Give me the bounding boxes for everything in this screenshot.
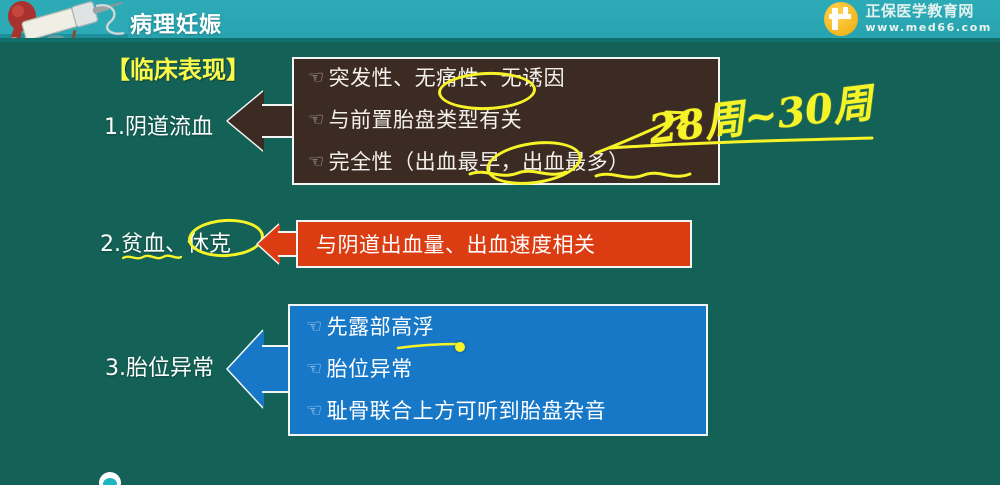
brand-name-cn: 正保医学教育网 (865, 4, 992, 20)
callout-line: ☜耻骨联合上方可听到胎盘杂音 (306, 391, 706, 433)
brand-logo: 正保医学教育网 www.med66.com (824, 2, 992, 36)
arrow-head-shock (258, 224, 280, 264)
cross-top-segment (843, 7, 848, 16)
arrow-neck-bleeding (262, 104, 294, 138)
cartoon-syringe-icon (0, 0, 128, 40)
callout-line-text: 耻骨联合上方可听到胎盘杂音 (327, 399, 607, 423)
section-title: 【临床表现】 (106, 50, 250, 85)
pointing-hand-icon: ☜ (306, 390, 323, 431)
pointing-hand-icon: ☜ (308, 100, 325, 140)
arrow-head-malposition (228, 330, 264, 408)
pointing-hand-icon: ☜ (308, 142, 325, 182)
callout-line: ☜先露部高浮 (306, 307, 706, 349)
highlight-oval-shock (187, 217, 265, 259)
pointing-hand-icon: ☜ (306, 348, 323, 389)
item-label-fetal-malposition: 3.胎位异常 (105, 350, 214, 382)
callout-line-text: 先露部高浮 (327, 315, 435, 339)
callout-line-text: 胎位异常 (327, 357, 413, 381)
page-title: 病理妊娠 (130, 7, 222, 39)
bottom-partial-icon (99, 472, 121, 485)
med66-cross-shield-icon (824, 2, 858, 36)
yellow-pointer-dot (455, 342, 465, 352)
arrow-neck-malposition (262, 345, 290, 393)
callout-line-text: 完全性（出血最早，出血最多） (329, 150, 630, 174)
arrow-neck-shock (278, 231, 298, 257)
header-bar: 病理妊娠 正保医学教育网 www.med66.com (0, 0, 1000, 40)
header-underline (0, 38, 1000, 42)
arrow-head-bleeding (228, 91, 264, 151)
pointing-hand-icon: ☜ (306, 306, 323, 347)
callout-line: ☜胎位异常 (306, 349, 706, 391)
callout-line-text: 与前置胎盘类型有关 (329, 108, 523, 132)
brand-url: www.med66.com (865, 22, 992, 34)
callout-line-text: 与阴道出血量、出血速度相关 (316, 229, 690, 259)
pointing-hand-icon: ☜ (308, 58, 325, 98)
item-label-vaginal-bleeding: 1.阴道流血 (104, 109, 213, 141)
highlight-underline-anemia (122, 252, 182, 262)
